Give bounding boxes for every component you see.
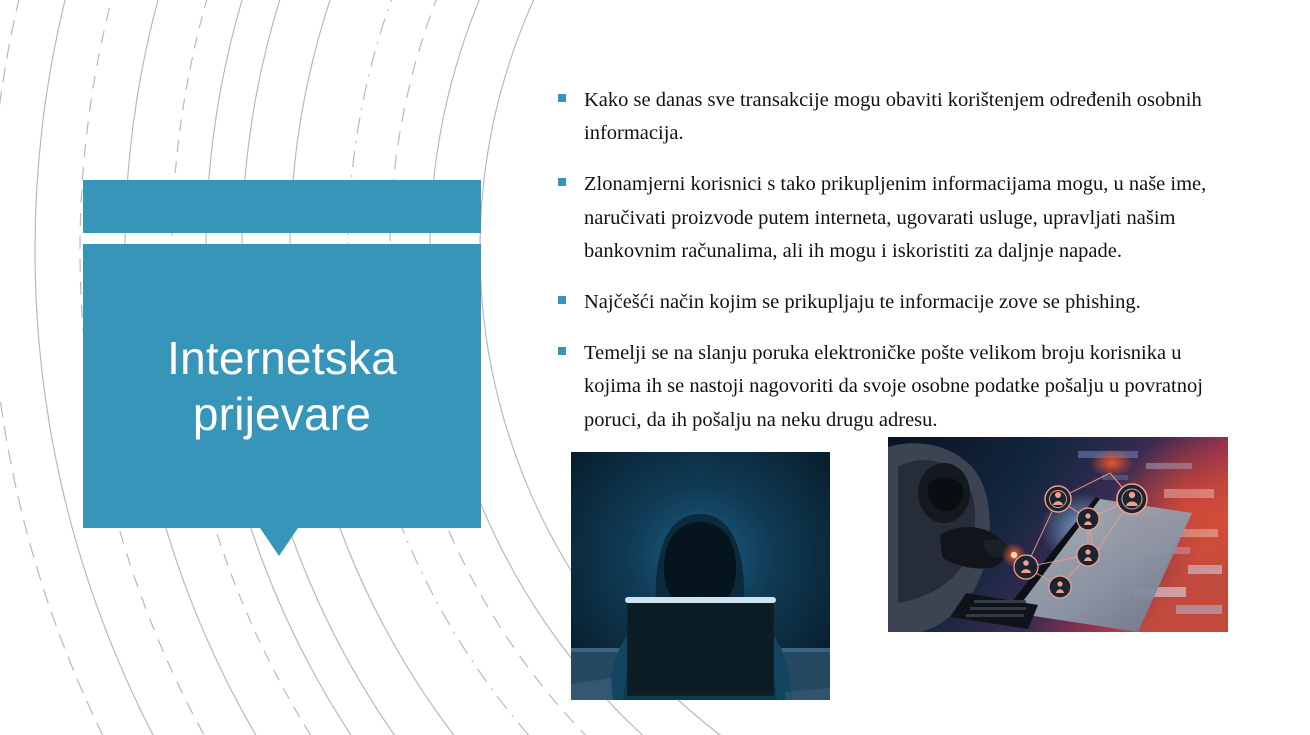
hacker-network-image [888, 437, 1228, 632]
bullet-square-icon [558, 347, 566, 355]
list-item-text: Najčešći način kojim se prikupljaju te i… [584, 291, 1141, 313]
picture-hooded-figure [571, 452, 830, 700]
title-callout-shape: Internetska prijevare [83, 180, 481, 555]
slide-title: Internetska prijevare [147, 330, 417, 442]
callout-body: Internetska prijevare [83, 244, 481, 528]
list-item: Temelji se na slanju poruka elektroničke… [556, 337, 1236, 437]
presentation-slide: Internetska prijevare Kako se danas sve … [0, 0, 1310, 735]
list-item: Najčešći način kojim se prikupljaju te i… [556, 286, 1236, 319]
list-item: Kako se danas sve transakcije mogu obavi… [556, 84, 1236, 150]
bullet-square-icon [558, 94, 566, 102]
bullet-square-icon [558, 178, 566, 186]
picture-hacker-network [888, 437, 1228, 632]
list-item-text: Zlonamjerni korisnici s tako prikupljeni… [584, 173, 1206, 261]
callout-tail-triangle [260, 528, 298, 556]
bullet-square-icon [558, 296, 566, 304]
hooded-figure-image [571, 452, 830, 700]
list-item-text: Temelji se na slanju poruka elektroničke… [584, 342, 1203, 430]
callout-top-bar [83, 180, 481, 233]
list-item: Zlonamjerni korisnici s tako prikupljeni… [556, 168, 1236, 268]
list-item-text: Kako se danas sve transakcije mogu obavi… [584, 89, 1202, 144]
bullet-list: Kako se danas sve transakcije mogu obavi… [556, 84, 1236, 437]
